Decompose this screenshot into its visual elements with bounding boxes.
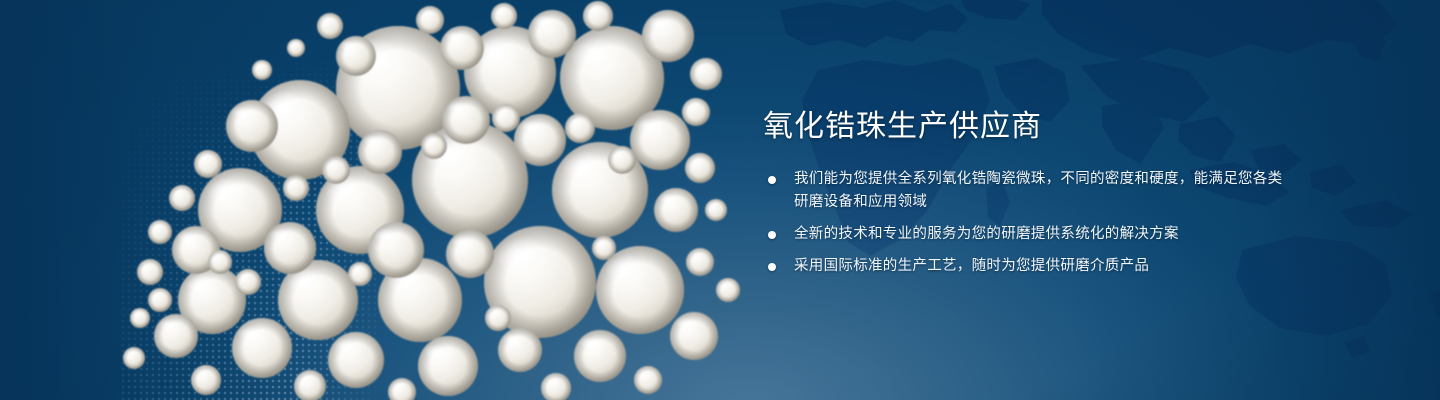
list-item-label: 全新的技术和专业的服务为您的研磨提供系统化的解决方案 bbox=[794, 223, 1283, 246]
banner-content: 氧化锆珠生产供应商 我们能为您提供全系列氧化锆陶瓷微珠，不同的密度和硬度，能满足… bbox=[763, 108, 1283, 278]
hero-banner: 氧化锆珠生产供应商 我们能为您提供全系列氧化锆陶瓷微珠，不同的密度和硬度，能满足… bbox=[0, 0, 1440, 400]
bullet-dot-icon bbox=[768, 231, 776, 239]
list-item: 采用国际标准的生产工艺，随时为您提供研磨介质产品 bbox=[763, 255, 1283, 278]
bullet-dot-icon bbox=[768, 176, 776, 184]
list-item-label: 采用国际标准的生产工艺，随时为您提供研磨介质产品 bbox=[794, 255, 1283, 278]
list-item: 全新的技术和专业的服务为您的研磨提供系统化的解决方案 bbox=[763, 223, 1283, 246]
feature-list: 我们能为您提供全系列氧化锆陶瓷微珠，不同的密度和硬度，能满足您各类研磨设备和应用… bbox=[763, 168, 1283, 278]
list-item: 我们能为您提供全系列氧化锆陶瓷微珠，不同的密度和硬度，能满足您各类研磨设备和应用… bbox=[763, 168, 1283, 214]
bullet-dot-icon bbox=[768, 263, 776, 271]
list-item-label: 我们能为您提供全系列氧化锆陶瓷微珠，不同的密度和硬度，能满足您各类研磨设备和应用… bbox=[794, 168, 1283, 214]
page-title: 氧化锆珠生产供应商 bbox=[763, 108, 1283, 146]
